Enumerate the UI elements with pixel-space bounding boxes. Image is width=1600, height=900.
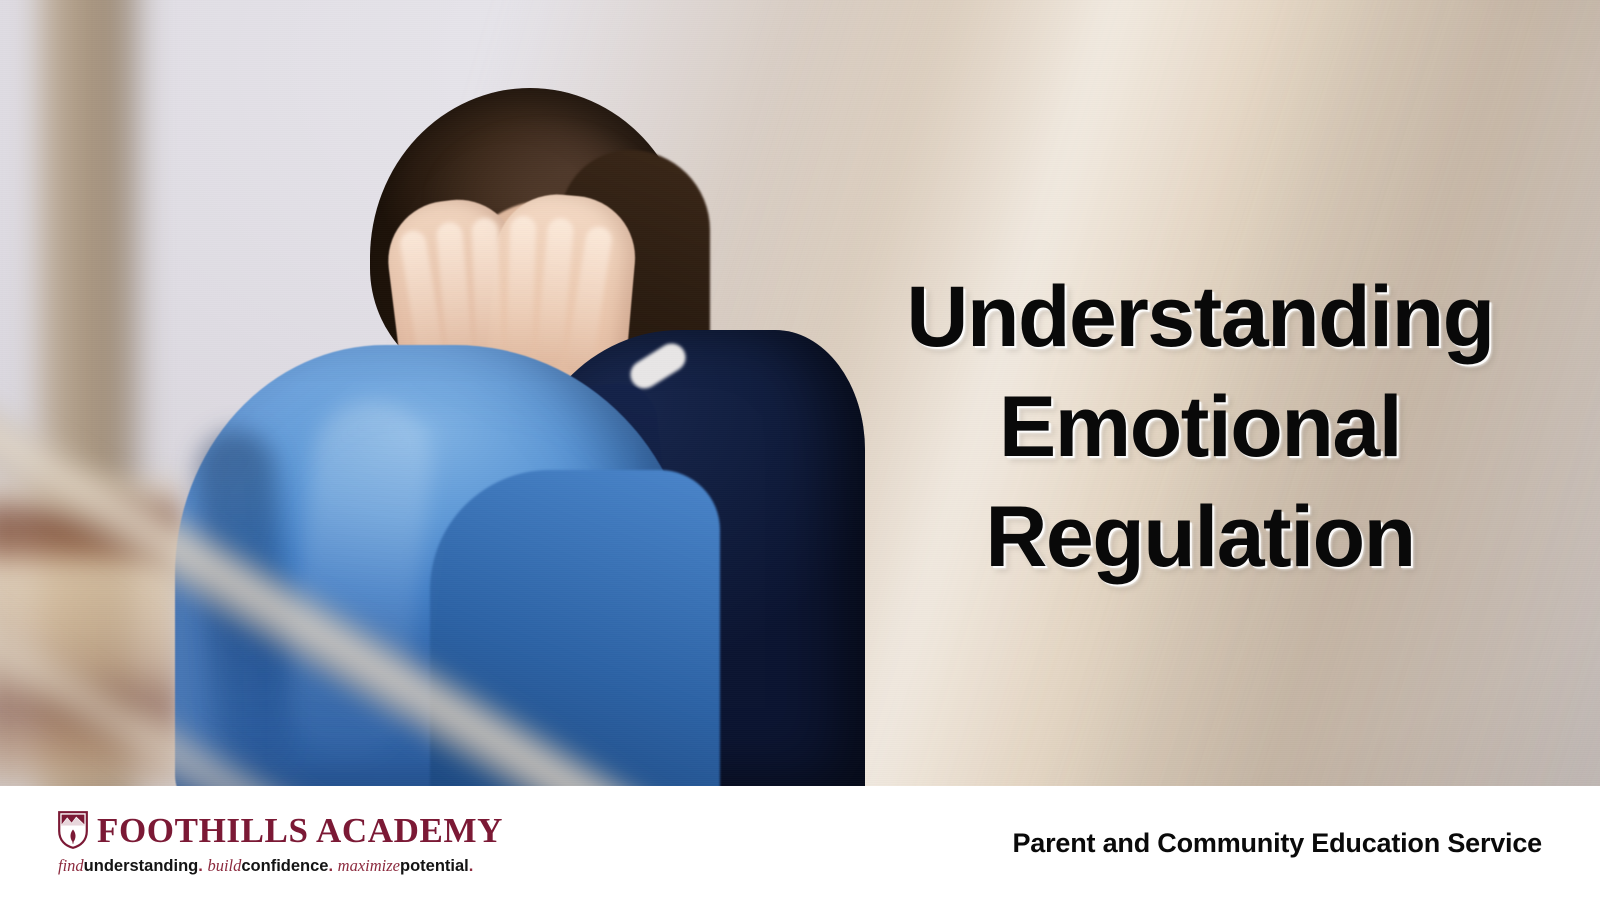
tagline-dot-2: . (328, 857, 333, 875)
title-line-2: Emotional (840, 372, 1560, 482)
shield-mountain-leaf-icon (58, 811, 88, 849)
service-label: Parent and Community Education Service (1012, 786, 1542, 900)
tagline-dot-1: . (198, 857, 203, 875)
tagline-dot-3: . (469, 857, 474, 875)
tagline-word-build: build (207, 856, 241, 875)
brand-name: FOOTHILLS ACADEMY (97, 813, 503, 848)
title-slide: Understanding Emotional Regulation FOOTH… (0, 0, 1600, 900)
title-line-1: Understanding (840, 262, 1560, 372)
tagline-word-maximize: maximize (338, 856, 400, 875)
title-line-3: Regulation (840, 482, 1560, 592)
tagline-word-confidence: confidence (241, 857, 328, 875)
tagline-word-understanding: understanding (84, 857, 199, 875)
tagline-word-potential: potential (400, 857, 469, 875)
footer-bar: FOOTHILLS ACADEMY findunderstanding. bui… (0, 786, 1600, 900)
slide-title: Understanding Emotional Regulation (840, 262, 1560, 592)
finger (505, 216, 536, 367)
tagline-word-find: find (58, 856, 84, 875)
logo-row: FOOTHILLS ACADEMY (58, 811, 503, 849)
brand-tagline: findunderstanding. buildconfidence. maxi… (58, 858, 503, 875)
foothills-academy-logo: FOOTHILLS ACADEMY findunderstanding. bui… (58, 790, 503, 896)
